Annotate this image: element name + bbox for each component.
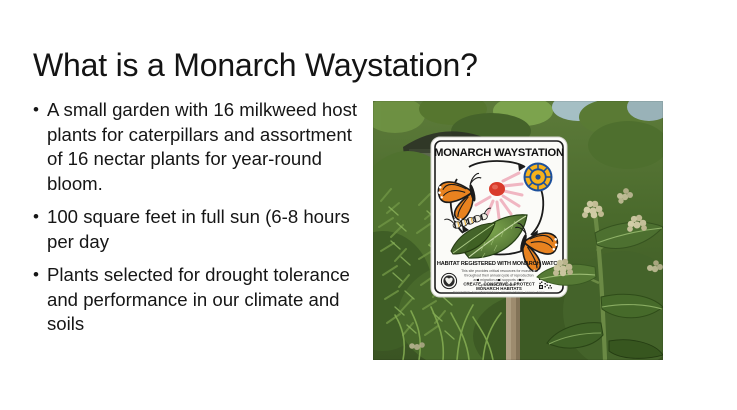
presentation-slide: What is a Monarch Waystation? • A small … xyxy=(0,0,737,410)
list-item-text: 100 square feet in full sun (6-8 hours p… xyxy=(47,206,350,252)
rotary-wheel-logo xyxy=(524,163,553,192)
photo-illustration: MONARCH WAYSTATION xyxy=(373,101,663,360)
list-item: • 100 square feet in full sun (6-8 hours… xyxy=(30,205,362,254)
svg-text:throughout their annual cycle: throughout their annual cycle of reprodu… xyxy=(464,274,533,278)
sign-footer-micro-text: Monarch Watch · Kansas Biological Survey… xyxy=(453,291,545,294)
bullet-marker: • xyxy=(33,264,39,286)
list-item: • A small garden with 16 milkweed host p… xyxy=(30,98,362,196)
list-item-text: Plants selected for drought tolerance an… xyxy=(47,264,350,334)
page-title: What is a Monarch Waystation? xyxy=(33,47,593,84)
bullet-marker: • xyxy=(33,206,39,228)
sign-heading: MONARCH WAYSTATION xyxy=(434,147,564,159)
list-item-text: A small garden with 16 milkweed host pla… xyxy=(47,99,357,194)
list-item: • Plants selected for drought tolerance … xyxy=(30,263,362,337)
bullet-marker: • xyxy=(33,99,39,121)
monarch-waystation-photo: MONARCH WAYSTATION xyxy=(373,101,663,360)
bullet-list: • A small garden with 16 milkweed host p… xyxy=(30,98,362,337)
sign-registration-line: HABITAT REGISTERED WITH MONARCH WATCH xyxy=(437,261,561,267)
svg-text:This site provides critical re: This site provides critical resources fo… xyxy=(461,269,537,273)
monarch-watch-seal xyxy=(441,273,456,288)
